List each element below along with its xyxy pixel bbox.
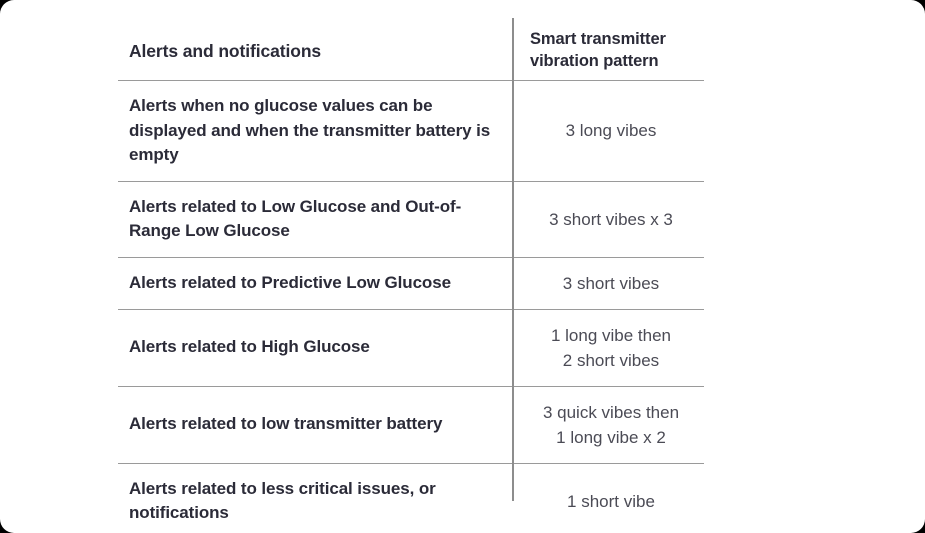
table-header: Alerts and notifications Smart transmitt… xyxy=(118,18,704,81)
header-row: Alerts and notifications Smart transmitt… xyxy=(118,18,704,81)
table-row: Alerts related to low transmitter batter… xyxy=(118,386,704,463)
vibration-pattern-line1: 3 long vibes xyxy=(528,118,694,143)
alerts-table-container: Alerts and notifications Smart transmitt… xyxy=(118,18,704,501)
vibration-pattern-line1: 1 long vibe then xyxy=(528,323,694,348)
alert-description: Alerts related to Low Glucose and Out-of… xyxy=(118,181,512,257)
vibration-pattern: 3 quick vibes then 1 long vibe x 2 xyxy=(512,386,704,463)
vibration-pattern: 3 long vibes xyxy=(512,81,704,182)
vibration-pattern: 3 short vibes x 3 xyxy=(512,181,704,257)
vibration-pattern-line2: 2 short vibes xyxy=(528,348,694,373)
vibration-pattern-line1: 1 short vibe xyxy=(528,489,694,514)
table-row: Alerts related to Low Glucose and Out-of… xyxy=(118,181,704,257)
vibration-pattern-line2: 1 long vibe x 2 xyxy=(528,425,694,450)
page-card: Alerts and notifications Smart transmitt… xyxy=(0,0,925,533)
alert-description: Alerts related to High Glucose xyxy=(118,309,512,386)
column-header-vibration-line1: Smart transmitter xyxy=(530,28,692,50)
table-row: Alerts when no glucose values can be dis… xyxy=(118,81,704,182)
vibration-pattern-line1: 3 short vibes x 3 xyxy=(528,207,694,232)
column-header-vibration-label: Smart transmitter vibration pattern xyxy=(512,18,704,80)
vibration-pattern: 1 short vibe xyxy=(512,463,704,533)
column-header-vibration: Smart transmitter vibration pattern xyxy=(512,18,704,81)
vibration-pattern: 3 short vibes xyxy=(512,257,704,309)
table-row: Alerts related to less critical issues, … xyxy=(118,463,704,533)
column-header-alerts: Alerts and notifications xyxy=(118,18,512,81)
table-row: Alerts related to High Glucose 1 long vi… xyxy=(118,309,704,386)
vibration-pattern: 1 long vibe then 2 short vibes xyxy=(512,309,704,386)
alerts-and-notifications-table: Alerts and notifications Smart transmitt… xyxy=(118,18,704,533)
column-header-alerts-label: Alerts and notifications xyxy=(118,20,512,78)
alert-description: Alerts related to less critical issues, … xyxy=(118,463,512,533)
column-divider xyxy=(512,18,514,501)
alert-description: Alerts related to Predictive Low Glucose xyxy=(118,257,512,309)
table-body: Alerts when no glucose values can be dis… xyxy=(118,81,704,533)
column-header-vibration-line2: vibration pattern xyxy=(530,50,692,72)
vibration-pattern-line1: 3 short vibes xyxy=(528,271,694,296)
alert-description: Alerts when no glucose values can be dis… xyxy=(118,81,512,182)
table-row: Alerts related to Predictive Low Glucose… xyxy=(118,257,704,309)
alert-description: Alerts related to low transmitter batter… xyxy=(118,386,512,463)
vibration-pattern-line1: 3 quick vibes then xyxy=(528,400,694,425)
